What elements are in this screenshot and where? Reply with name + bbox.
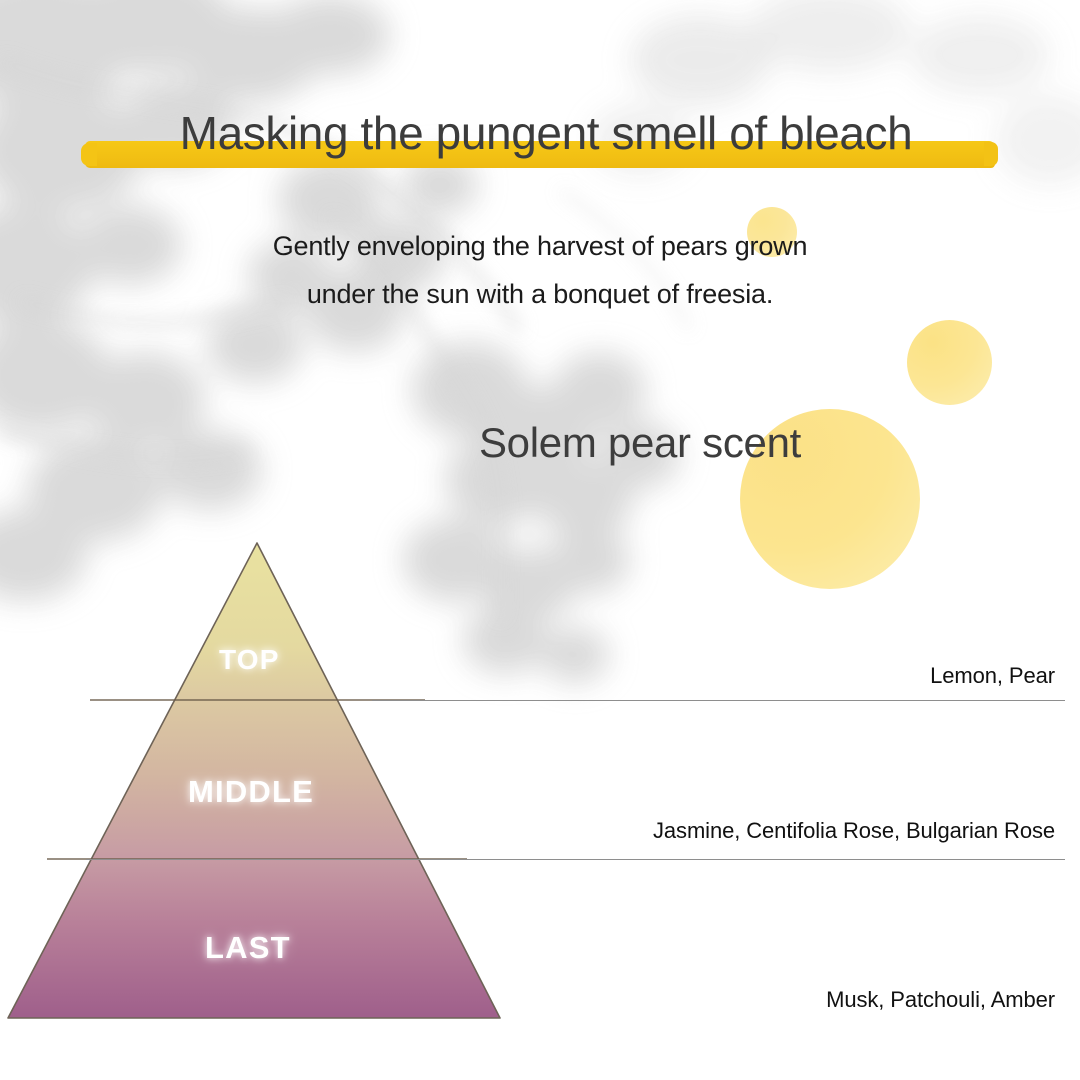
pyramid-tier-label-middle: MIDDLE xyxy=(188,774,314,810)
page-title: Masking the pungent smell of bleach xyxy=(0,104,1080,156)
notes-middle: Jasmine, Centifolia Rose, Bulgarian Rose xyxy=(653,818,1055,844)
connector-line-top xyxy=(372,700,1065,701)
scent-name: Solem pear scent xyxy=(0,418,1080,468)
subtitle-line-1: Gently enveloping the harvest of pears g… xyxy=(0,222,1080,270)
pyramid-tier-label-last: LAST xyxy=(205,930,291,966)
title-block: Masking the pungent smell of bleach xyxy=(0,104,1080,184)
pyramid-tier-label-top: TOP xyxy=(219,644,280,676)
notes-top: Lemon, Pear xyxy=(930,663,1055,689)
connector-line-middle xyxy=(86,859,1065,860)
decorative-circle-medium xyxy=(907,320,992,405)
subtitle-line-2: under the sun with a bonquet of freesia. xyxy=(0,270,1080,318)
fragrance-poster: Masking the pungent smell of bleach Gent… xyxy=(0,0,1080,1080)
subtitle: Gently enveloping the harvest of pears g… xyxy=(0,222,1080,318)
notes-last: Musk, Patchouli, Amber xyxy=(826,987,1055,1013)
